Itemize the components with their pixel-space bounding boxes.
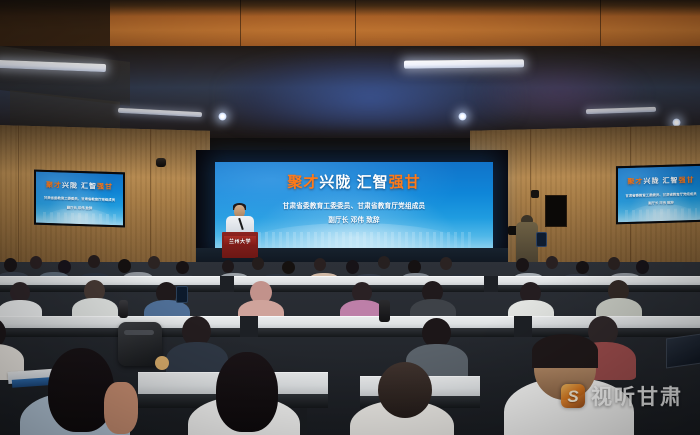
side-screen-right: 聚才兴陇 汇智强甘 甘肃省委教育工委委员、甘肃省教育厅党组成员 副厅长 邓伟 致… xyxy=(616,164,700,225)
slide-title-orange-tail: 强甘 xyxy=(678,177,694,184)
attendee-head xyxy=(346,260,359,274)
wall-vent xyxy=(545,195,567,227)
smartphone xyxy=(176,286,188,303)
watermark: S 视听甘肃 xyxy=(561,381,683,411)
attendee-head xyxy=(252,257,264,270)
aisle-gap xyxy=(220,276,234,292)
main-slide-subtitle-2: 副厅长 邓伟 致辞 xyxy=(215,214,493,224)
desk-edge xyxy=(258,328,514,337)
attendee-head xyxy=(282,261,295,274)
broadcaster-logo-icon: S xyxy=(561,384,585,408)
side-screen-left: 聚才兴陇 汇智强甘 甘肃省委教育工委委员、甘肃省教育厅党组成员 副厅长 邓伟 致… xyxy=(34,170,125,228)
attendee-head xyxy=(118,259,131,273)
main-slide-title: 聚才兴陇 汇智强甘 xyxy=(215,171,493,192)
water-bottle xyxy=(379,300,390,322)
backpack-charm xyxy=(155,356,169,370)
water-bottle xyxy=(119,300,128,318)
ceiling-purple-glow xyxy=(470,58,650,128)
attendee-head xyxy=(4,258,17,272)
attendee-head xyxy=(378,256,390,269)
slide-title-orange-lead: 聚才 xyxy=(46,182,62,190)
ceiling-downlight xyxy=(218,112,227,121)
watermark-text: 视听甘肃 xyxy=(591,381,683,411)
side-screen-left-content: 聚才兴陇 汇智强甘 甘肃省委教育工委委员、甘肃省教育厅党组成员 副厅长 邓伟 致… xyxy=(36,172,123,226)
backpack-strap xyxy=(124,330,154,335)
aisle-gap xyxy=(484,276,498,292)
attendee-head xyxy=(222,260,234,273)
attendee-head xyxy=(636,260,649,274)
aisle-gap xyxy=(240,316,258,337)
ceiling-light-tube xyxy=(404,59,524,68)
slide-title-white: 兴陇 汇智 xyxy=(62,183,97,191)
slide-title-orange-lead: 聚才 xyxy=(287,174,319,191)
wall-speaker xyxy=(531,190,539,198)
podium-nameplate: 兰州大学 xyxy=(224,236,256,246)
main-slide-subtitle-1: 甘肃省委教育工委委员、甘肃省教育厅党组成员 xyxy=(215,200,493,210)
attendee-head xyxy=(30,256,42,269)
attendee-head xyxy=(148,256,160,269)
ceiling-downlight xyxy=(458,112,467,121)
slide-title-white: 兴陇 汇智 xyxy=(319,174,388,191)
attendee-head xyxy=(576,261,589,274)
attendee-head xyxy=(314,258,326,271)
logo-letter: S xyxy=(567,388,578,405)
desk-leg xyxy=(300,408,307,435)
attendee-head-hair xyxy=(216,352,278,432)
slide-title-white: 兴陇 汇智 xyxy=(644,177,679,185)
camera-operator xyxy=(516,222,538,262)
smartphone xyxy=(536,232,547,247)
slide-skyline-graphic xyxy=(625,208,697,222)
attendee-head xyxy=(516,258,529,272)
attendee-head xyxy=(88,255,100,268)
attendee-head xyxy=(378,362,432,418)
slide-title-orange-tail: 强甘 xyxy=(389,174,421,191)
slide-title-orange-tail: 强甘 xyxy=(97,184,113,192)
attendee-head xyxy=(608,257,620,270)
aisle-gap xyxy=(514,316,532,337)
slide-skyline-graphic xyxy=(43,212,116,226)
attendee-head xyxy=(176,261,189,274)
slide-title-orange-lead: 聚才 xyxy=(628,178,644,185)
attendee-hand xyxy=(104,382,138,434)
lecture-hall-photo: 聚才兴陇 汇智强甘 甘肃省委教育工委委员、甘肃省教育厅党组成员 副厅长 邓伟 致… xyxy=(0,0,700,435)
laptop-screen xyxy=(666,333,700,368)
side-screen-right-content: 聚才兴陇 汇智强甘 甘肃省委教育工委委员、甘肃省教育厅党组成员 副厅长 邓伟 致… xyxy=(618,166,700,222)
wall-speaker xyxy=(156,158,166,167)
attendee-head xyxy=(546,256,558,269)
attendee-head xyxy=(408,260,421,274)
attendee-head xyxy=(440,257,452,270)
attendee-hair xyxy=(532,334,598,368)
